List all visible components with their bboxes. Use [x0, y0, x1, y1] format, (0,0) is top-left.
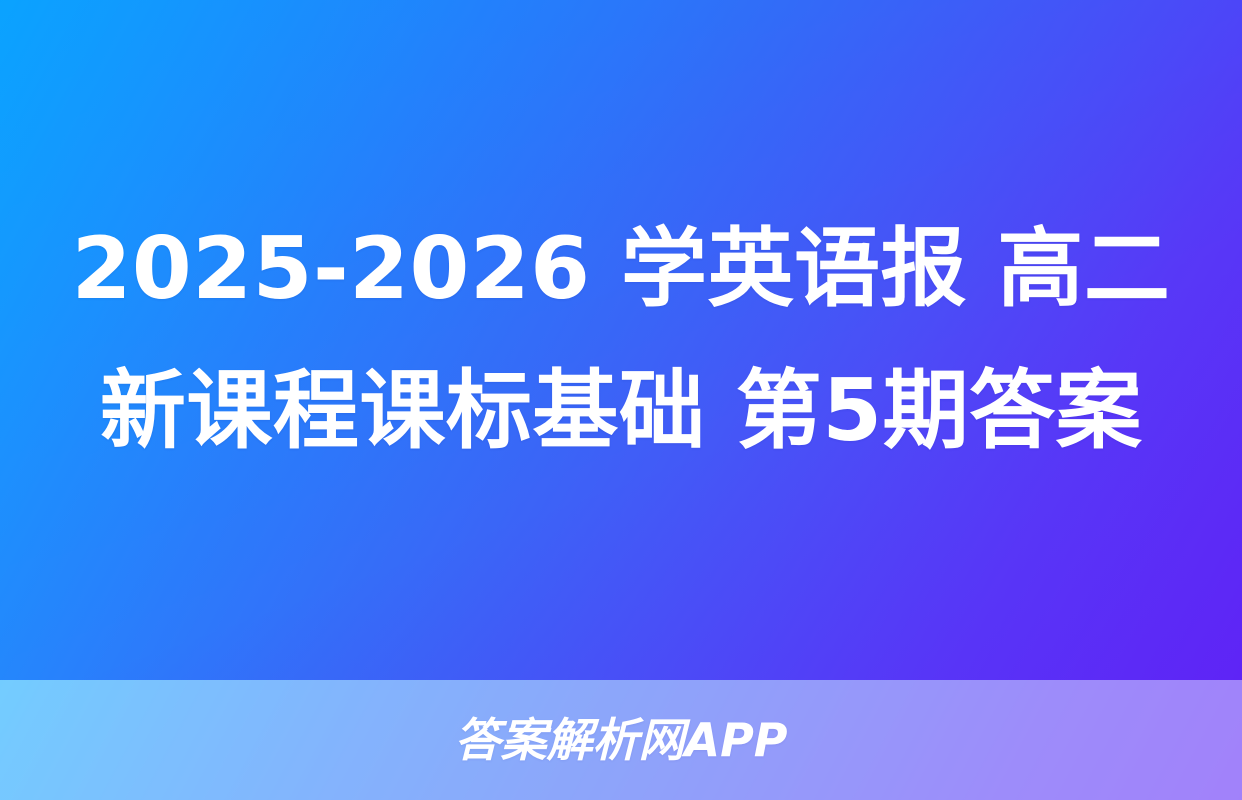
hero-content: 2025-2026 学英语报 高二 新课程课标基础 第5期答案	[66, 198, 1176, 482]
hero-gradient-banner: 2025-2026 学英语报 高二 新课程课标基础 第5期答案	[0, 0, 1242, 680]
answer-cover-card: 2025-2026 学英语报 高二 新课程课标基础 第5期答案 答案解析网APP	[0, 0, 1242, 800]
app-watermark-label: 答案解析网APP	[454, 717, 787, 763]
page-title: 2025-2026 学英语报 高二 新课程课标基础 第5期答案	[66, 198, 1176, 482]
watermark-band: 答案解析网APP	[0, 680, 1242, 800]
